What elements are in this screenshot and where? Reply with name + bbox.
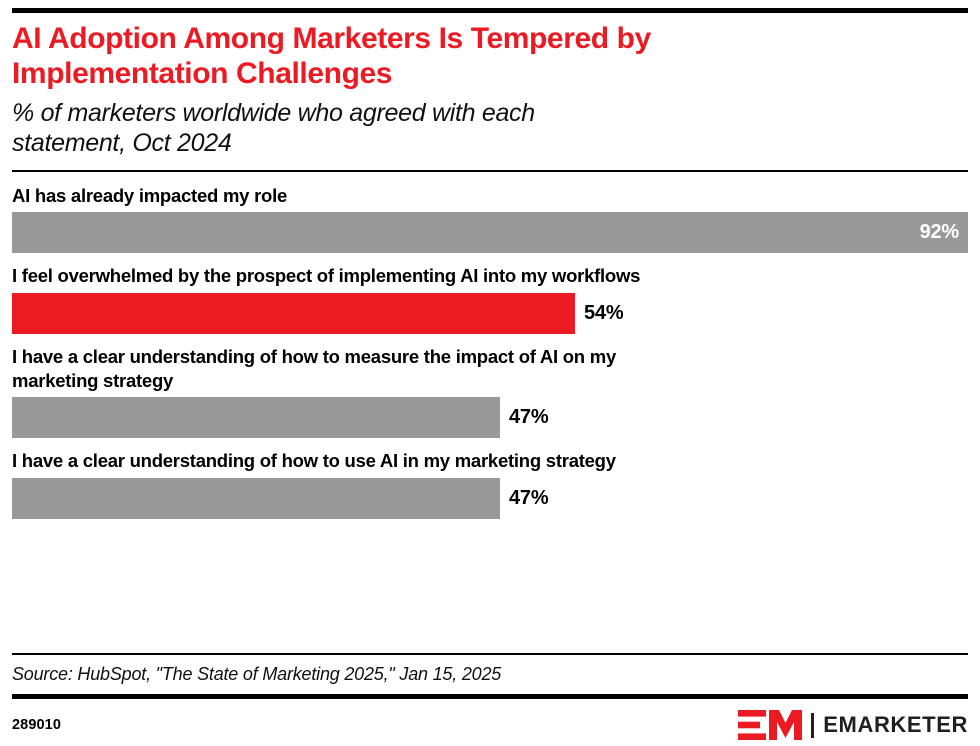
chart-title: AI Adoption Among Marketers Is Tempered … bbox=[12, 22, 968, 92]
bar-row: 47% bbox=[12, 478, 968, 519]
bar-group: I have a clear understanding of how to m… bbox=[12, 345, 968, 438]
bar-group: I feel overwhelmed by the prospect of im… bbox=[12, 264, 968, 334]
bar-value: 92% bbox=[920, 221, 968, 244]
chart-id: 289010 bbox=[12, 717, 61, 733]
emarketer-logo: EMARKETER bbox=[738, 710, 968, 740]
em-monogram-icon bbox=[738, 710, 802, 740]
source-note: Source: HubSpot, "The State of Marketing… bbox=[12, 655, 968, 695]
bar-group: I have a clear understanding of how to u… bbox=[12, 449, 968, 519]
bar-value: 47% bbox=[500, 487, 548, 510]
bar-label: AI has already impacted my role bbox=[12, 184, 968, 208]
logo-divider bbox=[811, 713, 814, 738]
bar-row: 92% bbox=[12, 212, 968, 253]
chart-footer: Source: HubSpot, "The State of Marketing… bbox=[12, 653, 968, 741]
bar-chart-plot: AI has already impacted my role 92% I fe… bbox=[12, 172, 968, 519]
bar-track bbox=[12, 293, 575, 334]
chart-subtitle: % of marketers worldwide who agreed with… bbox=[12, 98, 968, 158]
bar-row: 54% bbox=[12, 293, 968, 334]
bar-label: I feel overwhelmed by the prospect of im… bbox=[12, 264, 968, 288]
bar-row: 47% bbox=[12, 397, 968, 438]
bar-track: 92% bbox=[12, 212, 968, 253]
chart-card: AI Adoption Among Marketers Is Tempered … bbox=[0, 8, 980, 746]
chart-header: AI Adoption Among Marketers Is Tempered … bbox=[12, 13, 968, 158]
bar-label: I have a clear understanding of how to m… bbox=[12, 345, 968, 392]
bar-label: I have a clear understanding of how to u… bbox=[12, 449, 968, 473]
bar-value: 54% bbox=[575, 302, 623, 325]
footer-bottom-row: 289010 EMARKETER bbox=[12, 699, 968, 740]
bar-value: 47% bbox=[500, 406, 548, 429]
bar-group: AI has already impacted my role 92% bbox=[12, 184, 968, 254]
brand-name: EMARKETER bbox=[823, 712, 968, 738]
bar-track bbox=[12, 397, 500, 438]
bar-track bbox=[12, 478, 500, 519]
